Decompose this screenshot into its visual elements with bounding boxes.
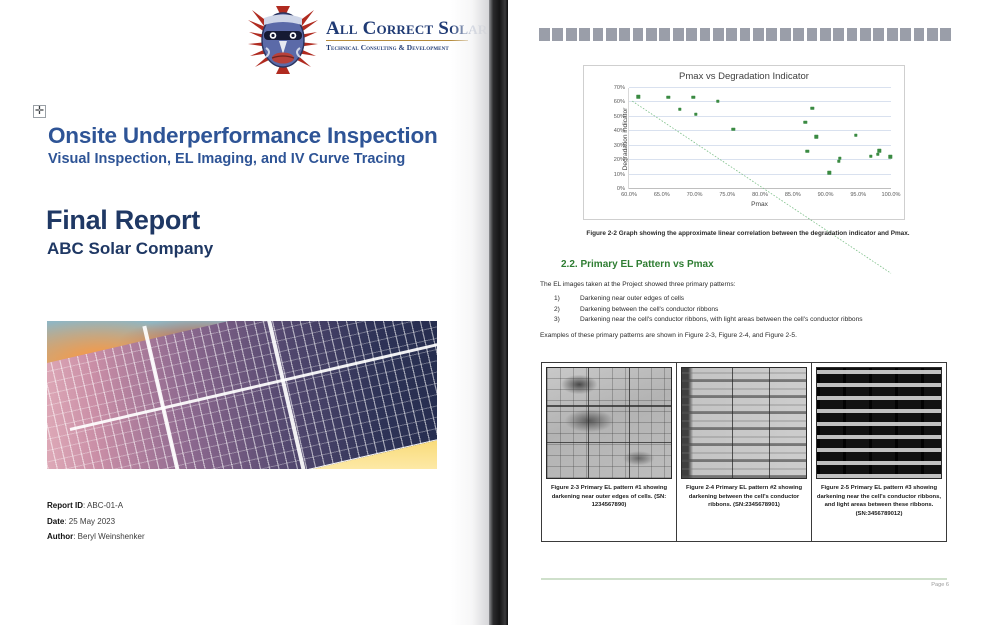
header-placeholder-block bbox=[833, 28, 844, 41]
cover-photo-solar-array bbox=[47, 321, 437, 469]
header-placeholder-block bbox=[646, 28, 657, 41]
header-placeholder-block bbox=[927, 28, 938, 41]
figure-2-4-caption: Figure 2-4 Primary EL pattern #2 showing… bbox=[681, 484, 807, 510]
header-placeholder-block bbox=[579, 28, 590, 41]
header-placeholder-block bbox=[887, 28, 898, 41]
meta-label: Report ID bbox=[47, 501, 83, 510]
chart-pmax-vs-degradation: Pmax vs Degradation Indicator Degradatio… bbox=[583, 65, 905, 220]
el-figure-grid: Figure 2-3 Primary EL pattern #1 showing… bbox=[541, 362, 947, 542]
list-item-label: Darkening near outer edges of cells bbox=[580, 295, 684, 302]
header-placeholder-block bbox=[740, 28, 751, 41]
header-placeholder-block bbox=[566, 28, 577, 41]
chart-data-point bbox=[889, 155, 892, 158]
meta-row: Author: Beryl Weinshenker bbox=[47, 529, 145, 545]
content-page: Pmax vs Degradation Indicator Degradatio… bbox=[508, 0, 982, 625]
chart-y-tick: 30% bbox=[614, 143, 625, 149]
list-item-number: 2) bbox=[554, 305, 574, 316]
page-number: Page 6 bbox=[931, 582, 949, 588]
header-placeholder-block bbox=[673, 28, 684, 41]
header-placeholder-block bbox=[619, 28, 630, 41]
header-placeholder-block bbox=[793, 28, 804, 41]
header-placeholder-block bbox=[847, 28, 858, 41]
el-image-pattern-2 bbox=[681, 367, 807, 479]
redacted-header-band bbox=[539, 28, 951, 41]
meta-value: Beryl Weinshenker bbox=[78, 532, 145, 541]
header-placeholder-block bbox=[860, 28, 871, 41]
figure-cell: Figure 2-4 Primary EL pattern #2 showing… bbox=[677, 363, 812, 541]
chart-x-axis-label: Pmax bbox=[751, 201, 768, 208]
cover-subtitle: Visual Inspection, EL Imaging, and IV Cu… bbox=[48, 151, 468, 167]
chart-y-tick: 60% bbox=[614, 99, 625, 105]
chart-y-tick: 10% bbox=[614, 172, 625, 178]
list-item-number: 1) bbox=[554, 294, 574, 305]
header-placeholder-block bbox=[726, 28, 737, 41]
document-viewer: All Correct Solar Technical Consulting &… bbox=[0, 0, 982, 625]
cover-report-label: Final Report bbox=[46, 205, 200, 236]
text-box-move-handle[interactable]: ✛ bbox=[33, 105, 46, 118]
plot-area: 0%10%20%30%40%50%60%70%60.0%65.0%70.0%75… bbox=[628, 88, 891, 189]
logo-divider bbox=[326, 40, 468, 42]
list-item: 3)Darkening near the cell's conductor ri… bbox=[554, 315, 954, 326]
header-placeholder-block bbox=[713, 28, 724, 41]
figure-2-3-caption: Figure 2-3 Primary EL pattern #1 showing… bbox=[546, 484, 672, 510]
tribal-mask-logo-icon bbox=[246, 4, 320, 76]
chart-y-tick: 40% bbox=[614, 128, 625, 134]
header-placeholder-block bbox=[606, 28, 617, 41]
figure-cell: Figure 2-5 Primary EL pattern #3 showing… bbox=[812, 363, 946, 541]
chart-y-tick: 20% bbox=[614, 157, 625, 163]
intro-paragraph: The EL images taken at the Project showe… bbox=[540, 281, 955, 288]
meta-value: ABC-01-A bbox=[87, 501, 123, 510]
header-placeholder-block bbox=[593, 28, 604, 41]
logo-company-name: All Correct Solar bbox=[326, 19, 468, 39]
footer-divider bbox=[541, 578, 947, 580]
el-image-pattern-3 bbox=[816, 367, 942, 479]
figure-2-5-caption: Figure 2-5 Primary EL pattern #3 showing… bbox=[816, 484, 942, 518]
plot-frame: Degradation indicator 0%10%20%30%40%50%6… bbox=[628, 88, 891, 189]
examples-paragraph: Examples of these primary patterns are s… bbox=[540, 332, 955, 339]
figure-2-2-caption: Figure 2-2 Graph showing the approximate… bbox=[543, 230, 953, 237]
header-placeholder-block bbox=[900, 28, 911, 41]
el-image-pattern-1 bbox=[546, 367, 672, 479]
header-placeholder-block bbox=[766, 28, 777, 41]
list-item-label: Darkening between the cell's conductor r… bbox=[580, 306, 718, 313]
header-placeholder-block bbox=[753, 28, 764, 41]
meta-label: Date bbox=[47, 517, 64, 526]
logo-wordmark: All Correct Solar Technical Consulting &… bbox=[326, 19, 468, 52]
meta-row: Date: 25 May 2023 bbox=[47, 514, 145, 530]
header-placeholder-block bbox=[780, 28, 791, 41]
header-placeholder-block bbox=[539, 28, 550, 41]
header-placeholder-block bbox=[820, 28, 831, 41]
book-spine-gutter bbox=[489, 0, 508, 625]
chart-title: Pmax vs Degradation Indicator bbox=[584, 71, 904, 82]
list-item-label: Darkening near the cell's conductor ribb… bbox=[580, 316, 863, 323]
header-placeholder-block bbox=[633, 28, 644, 41]
cover-title: Onsite Underperformance Inspection bbox=[48, 123, 468, 149]
meta-row: Report ID: ABC-01-A bbox=[47, 498, 145, 514]
header-placeholder-block bbox=[700, 28, 711, 41]
company-logo: All Correct Solar Technical Consulting &… bbox=[246, 4, 468, 76]
figure-cell: Figure 2-3 Primary EL pattern #1 showing… bbox=[542, 363, 677, 541]
header-placeholder-block bbox=[873, 28, 884, 41]
list-item: 2)Darkening between the cell's conductor… bbox=[554, 305, 954, 316]
logo-tagline: Technical Consulting & Development bbox=[326, 43, 468, 52]
primary-pattern-list: 1)Darkening near outer edges of cells2)D… bbox=[554, 294, 954, 326]
cover-metadata: Report ID: ABC-01-A Date: 25 May 2023 Au… bbox=[47, 498, 145, 545]
header-placeholder-block bbox=[914, 28, 925, 41]
chart-y-tick: 50% bbox=[614, 114, 625, 120]
list-item: 1)Darkening near outer edges of cells bbox=[554, 294, 954, 305]
header-placeholder-block bbox=[807, 28, 818, 41]
section-heading-2-2: 2.2. Primary EL Pattern vs Pmax bbox=[561, 259, 714, 270]
header-placeholder-block bbox=[686, 28, 697, 41]
header-placeholder-block bbox=[552, 28, 563, 41]
header-placeholder-block bbox=[940, 28, 951, 41]
chart-y-tick: 70% bbox=[614, 85, 625, 91]
cover-page: All Correct Solar Technical Consulting &… bbox=[0, 0, 489, 625]
header-placeholder-block bbox=[659, 28, 670, 41]
list-item-number: 3) bbox=[554, 315, 574, 326]
meta-value: 25 May 2023 bbox=[69, 517, 115, 526]
meta-label: Author bbox=[47, 532, 73, 541]
cover-company-name: ABC Solar Company bbox=[47, 239, 213, 259]
